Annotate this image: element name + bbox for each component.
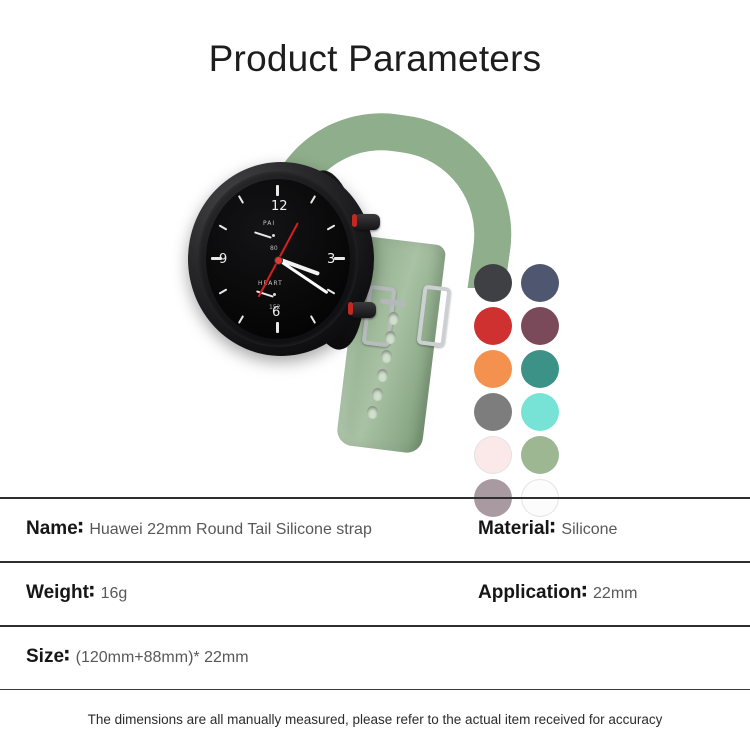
dial-tick bbox=[310, 195, 316, 204]
watch-minute-hand bbox=[277, 258, 328, 294]
spec-cell-size: Size∶(120mm+88mm)* 22mm bbox=[26, 645, 249, 668]
watch-crown-bottom[interactable] bbox=[350, 302, 376, 318]
color-swatch-red[interactable] bbox=[474, 307, 512, 345]
spec-table: Name∶Huawei 22mm Round Tail Silicone str… bbox=[0, 497, 750, 690]
table-divider bbox=[0, 689, 750, 690]
table-row: Name∶Huawei 22mm Round Tail Silicone str… bbox=[0, 499, 750, 561]
spec-value: 16g bbox=[101, 585, 128, 602]
watch-hands-pivot bbox=[274, 256, 283, 265]
product-image: 12 3 6 9 PAI 80 HEART 152 bbox=[180, 100, 480, 440]
watch-crown-top-accent bbox=[352, 214, 357, 227]
dial-numeral-9: 9 bbox=[219, 252, 227, 267]
product-parameters-page: Product Parameters bbox=[0, 0, 750, 750]
spec-cell-material: Material∶Silicone bbox=[478, 517, 617, 540]
dial-tick bbox=[238, 315, 244, 324]
table-row: Size∶(120mm+88mm)* 22mm bbox=[0, 627, 750, 689]
spec-label: Size∶ bbox=[26, 646, 70, 667]
subdial-pai-pivot bbox=[272, 234, 275, 237]
subdial-pai-value: 80 bbox=[270, 245, 278, 252]
dial-numeral-3: 3 bbox=[327, 252, 335, 267]
spec-label: Weight∶ bbox=[26, 582, 95, 603]
strap-buckle-frame bbox=[416, 285, 451, 348]
spec-value: Silicone bbox=[561, 521, 617, 538]
watch-crown-bottom-accent bbox=[348, 302, 353, 315]
watch-bezel: 12 3 6 9 PAI 80 HEART 152 bbox=[198, 171, 358, 347]
color-swatch-plum[interactable] bbox=[521, 307, 559, 345]
dial-tick bbox=[327, 224, 336, 230]
strap-hole bbox=[372, 388, 383, 401]
spec-label: Application∶ bbox=[478, 582, 587, 603]
strap-hole bbox=[388, 312, 399, 325]
subdial-pai-label: PAI bbox=[263, 220, 275, 227]
subdial-heart-pivot bbox=[273, 293, 276, 296]
dial-tick bbox=[334, 257, 345, 260]
strap-hole bbox=[381, 350, 392, 363]
spec-label: Material∶ bbox=[478, 518, 555, 539]
color-swatch-slate-blue[interactable] bbox=[521, 264, 559, 302]
dial-tick bbox=[238, 195, 244, 204]
subdial-heart-value: 152 bbox=[269, 304, 280, 311]
dial-tick bbox=[219, 288, 228, 294]
color-swatch-charcoal[interactable] bbox=[474, 264, 512, 302]
dial-numeral-12: 12 bbox=[271, 199, 288, 214]
page-title: Product Parameters bbox=[0, 38, 750, 80]
color-swatch-teal[interactable] bbox=[521, 350, 559, 388]
dial-tick bbox=[276, 322, 279, 333]
product-hero: 12 3 6 9 PAI 80 HEART 152 bbox=[0, 96, 750, 486]
spec-label: Name∶ bbox=[26, 518, 83, 539]
color-swatch-mint[interactable] bbox=[521, 393, 559, 431]
table-row: Weight∶16g Application∶22mm bbox=[0, 563, 750, 625]
watch-crown-top[interactable] bbox=[354, 214, 380, 230]
color-swatch-pale-pink[interactable] bbox=[474, 436, 512, 474]
spec-cell-weight: Weight∶16g bbox=[26, 581, 127, 604]
measurement-note: The dimensions are all manually measured… bbox=[0, 712, 750, 727]
subdial-pai-hand bbox=[254, 231, 272, 238]
dial-tick bbox=[310, 315, 316, 324]
strap-hole bbox=[367, 406, 378, 419]
watch-dial: 12 3 6 9 PAI 80 HEART 152 bbox=[206, 179, 350, 339]
dial-tick bbox=[276, 185, 279, 196]
watch-case: 12 3 6 9 PAI 80 HEART 152 bbox=[188, 162, 374, 356]
color-swatch-sage[interactable] bbox=[521, 436, 559, 474]
spec-value: 22mm bbox=[593, 585, 637, 602]
spec-cell-application: Application∶22mm bbox=[478, 581, 637, 604]
color-swatch-gray[interactable] bbox=[474, 393, 512, 431]
spec-value: (120mm+88mm)* 22mm bbox=[76, 649, 249, 666]
spec-value: Huawei 22mm Round Tail Silicone strap bbox=[89, 521, 372, 538]
color-swatch-grid bbox=[474, 264, 559, 517]
color-swatch-orange[interactable] bbox=[474, 350, 512, 388]
strap-hole bbox=[377, 369, 388, 382]
strap-hole bbox=[385, 331, 396, 344]
spec-cell-name: Name∶Huawei 22mm Round Tail Silicone str… bbox=[26, 517, 372, 540]
dial-tick bbox=[219, 224, 228, 230]
